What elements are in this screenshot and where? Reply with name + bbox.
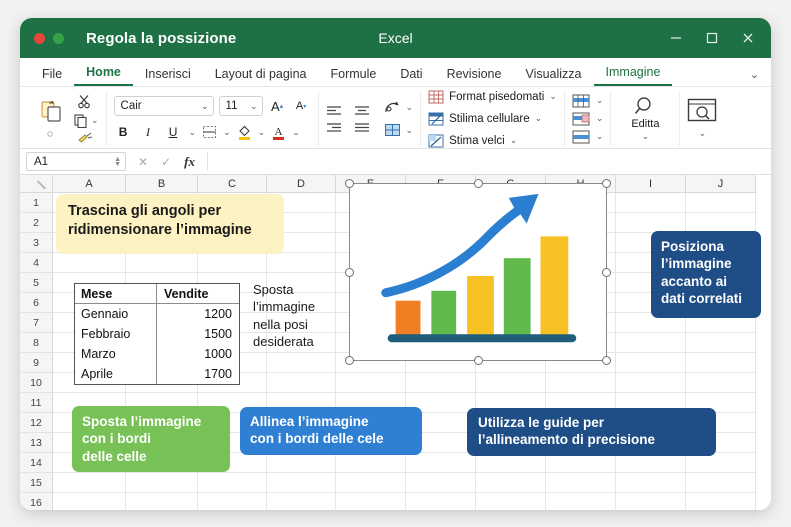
cell-D9[interactable] [267, 353, 336, 373]
resize-handle-top-left[interactable] [345, 179, 354, 188]
orientation-chevron-icon[interactable]: ⌄ [406, 102, 414, 113]
italic-button[interactable]: I [139, 123, 158, 141]
sales-data-table[interactable]: Mese Vendite Gennaio 1200 Febbraio 1500 … [74, 283, 240, 385]
borders-chevron-icon[interactable]: ⌄ [223, 127, 231, 138]
chart-graphic [350, 184, 606, 360]
align-left-icon[interactable] [326, 105, 342, 116]
ribbon-group-clipboard: ⌄ [28, 91, 107, 146]
cell-J14[interactable] [686, 453, 756, 473]
cell-C16[interactable] [198, 493, 267, 510]
conditional-format-icon [428, 90, 444, 104]
callout-resize: Trascina gli angoli per ridimensionare l… [56, 194, 284, 254]
paste-icon[interactable] [39, 99, 65, 125]
align-center-icon[interactable] [354, 105, 370, 116]
callout-move-with-cells: Sposta l’immagine con i bordi delle cell… [72, 406, 230, 472]
cell-C4[interactable] [198, 253, 267, 273]
resize-handle-bottom-center[interactable] [474, 356, 483, 365]
cell-F15[interactable] [406, 473, 476, 493]
callout-position-text: Posiziona l’immagine accanto ai dati cor… [651, 231, 761, 314]
cell-sales: 1200 [157, 304, 239, 324]
maximize-icon[interactable] [703, 29, 721, 47]
cell-J9[interactable] [686, 353, 756, 373]
editing-label: Editta [631, 118, 659, 130]
tab-file[interactable]: File [30, 67, 74, 86]
svg-text:A: A [275, 126, 283, 138]
insert-cells-icon[interactable] [572, 94, 590, 108]
styles-chevron-0-icon[interactable]: ⌄ [549, 91, 557, 102]
row-header-7[interactable]: 7 [20, 313, 53, 333]
tab-dati[interactable]: Dati [388, 67, 434, 86]
tab-formule[interactable]: Formule [318, 67, 388, 86]
column-header-C[interactable]: C [198, 175, 267, 193]
cell-F16[interactable] [406, 493, 476, 510]
row-header-9[interactable]: 9 [20, 353, 53, 373]
column-header-I[interactable]: I [616, 175, 686, 193]
cell-I10[interactable] [616, 373, 686, 393]
formula-bar: A1 ▲▼ ✕ ✓ fx [20, 149, 771, 175]
close-dot-icon[interactable] [34, 33, 45, 44]
resize-handle-middle-right[interactable] [602, 268, 611, 277]
row-header-3[interactable]: 3 [20, 233, 53, 253]
zoom-dot-icon[interactable] [53, 33, 64, 44]
cell-F10[interactable] [406, 373, 476, 393]
cell-month: Aprile [75, 364, 157, 384]
resize-handle-bottom-right[interactable] [602, 356, 611, 365]
delete-cells-icon[interactable] [572, 112, 590, 126]
ribbon-tabbar: File Home Inserisci Layout di pagina For… [20, 58, 771, 87]
delete-cells-chevron-icon[interactable]: ⌄ [596, 113, 604, 124]
styles-item-stima-velci[interactable]: Stima velci ⌄ [428, 132, 557, 149]
cell-I1[interactable] [616, 193, 686, 213]
cell-G16[interactable] [476, 493, 546, 510]
callout-guides-text: Utilizza le guide per l’allineamento di … [467, 408, 716, 455]
tab-home[interactable]: Home [74, 65, 133, 86]
row-header-16[interactable]: 16 [20, 493, 53, 510]
row-header-11[interactable]: 11 [20, 393, 53, 413]
cell-D4[interactable] [267, 253, 336, 273]
merge-chevron-icon[interactable]: ⌄ [406, 125, 414, 136]
fill-color-icon[interactable] [237, 124, 252, 140]
cell-E14[interactable] [336, 453, 406, 473]
row-header-2[interactable]: 2 [20, 213, 53, 233]
font-color-icon[interactable]: A [271, 124, 286, 140]
tab-layout-di-pagina[interactable]: Layout di pagina [203, 67, 319, 86]
cell-F14[interactable] [406, 453, 476, 473]
find-chevron-icon[interactable]: ⌄ [699, 128, 707, 139]
styles-label-1: Stilima cellulare [449, 113, 530, 125]
cell-J15[interactable] [686, 473, 756, 493]
cancel-icon[interactable]: ✕ [138, 155, 148, 169]
cell-A16[interactable] [53, 493, 126, 510]
cell-I15[interactable] [616, 473, 686, 493]
cell-I16[interactable] [616, 493, 686, 510]
callout-move-text: Sposta l’immagine con i bordi delle cell… [72, 406, 230, 472]
move-image-note: Sposta l’immagine nella posi desiderata [253, 281, 348, 350]
editing-chevron-icon[interactable]: ⌄ [642, 131, 650, 142]
copy-dropdown-chevron-icon[interactable]: ⌄ [91, 115, 99, 126]
cell-B16[interactable] [126, 493, 198, 510]
ribbon-group-find: ⌄ [680, 91, 724, 146]
cell-month: Febbraio [75, 324, 157, 344]
row-header-8[interactable]: 8 [20, 333, 53, 353]
cell-J2[interactable] [686, 213, 756, 233]
cell-sales: 1500 [157, 324, 239, 344]
cell-A4[interactable] [53, 253, 126, 273]
styles-chevron-1-icon[interactable]: ⌄ [535, 113, 543, 124]
bar-5 [541, 236, 569, 335]
cell-E15[interactable] [336, 473, 406, 493]
format-cells-chevron-icon[interactable]: ⌄ [596, 131, 604, 142]
font-name-chevron-icon[interactable]: ⌄ [201, 101, 209, 112]
ribbon-group-cells: ⌄ ⌄ [565, 91, 612, 146]
cell-sales: 1700 [157, 364, 239, 384]
shrink-font-icon[interactable]: A▾ [292, 97, 311, 115]
formula-bar-buttons: ✕ ✓ fx [138, 154, 195, 170]
insert-cells-chevron-icon[interactable]: ⌄ [596, 95, 604, 106]
format-cells-icon[interactable] [572, 130, 590, 144]
paste-dropdown-circle-icon[interactable] [46, 130, 58, 138]
font-name-combo[interactable]: Cair ⌄ [114, 96, 214, 116]
format-painter-icon[interactable] [73, 132, 99, 143]
font-size-value: 11 [226, 100, 238, 112]
styles-item-format-pisedomati[interactable]: Format pisedomati ⌄ [428, 88, 557, 105]
confirm-icon[interactable]: ✓ [161, 155, 171, 169]
cell-sales: 1000 [157, 344, 239, 364]
cell-D10[interactable] [267, 373, 336, 393]
row-header-15[interactable]: 15 [20, 473, 53, 493]
cell-B15[interactable] [126, 473, 198, 493]
cell-D16[interactable] [267, 493, 336, 510]
excel-window: Regola la possizione Excel File Home Ins… [20, 18, 771, 510]
callout-use-guides: Utilizza le guide per l’allineamento di … [467, 408, 716, 456]
styles-label-2: Stima velci [449, 135, 505, 147]
copy-icon[interactable] [73, 113, 88, 128]
resize-handle-top-right[interactable] [602, 179, 611, 188]
styles-label-0: Format pisedomati [449, 91, 544, 103]
cell-H14[interactable] [546, 453, 616, 473]
document-title: Regola la possizione [86, 30, 236, 47]
ribbon: ⌄ Cair ⌄ [20, 87, 771, 149]
row-header-4[interactable]: 4 [20, 253, 53, 273]
cell-B4[interactable] [126, 253, 198, 273]
justify-icon[interactable] [354, 122, 370, 133]
find-select-icon[interactable] [687, 98, 717, 122]
table-header-vendite: Vendite [157, 284, 239, 304]
table-row[interactable]: Febbraio 1500 [75, 324, 239, 344]
cell-G10[interactable] [476, 373, 546, 393]
bold-button[interactable]: B [114, 123, 133, 141]
row-header-14[interactable]: 14 [20, 453, 53, 473]
bar-1 [396, 301, 421, 336]
resize-handle-top-center[interactable] [474, 179, 483, 188]
font-name-value: Cair [121, 100, 142, 112]
cell-G14[interactable] [476, 453, 546, 473]
cell-J16[interactable] [686, 493, 756, 510]
bar-chart-growth-image[interactable] [349, 183, 607, 361]
table-header-mese: Mese [75, 284, 157, 304]
font-size-chevron-icon[interactable]: ⌄ [250, 101, 258, 112]
tab-revisione[interactable]: Revisione [435, 67, 514, 86]
table-style-icon [428, 112, 444, 126]
font-color-chevron-icon[interactable]: ⌄ [292, 127, 300, 138]
minimize-icon[interactable] [667, 29, 685, 47]
fill-color-chevron-icon[interactable]: ⌄ [258, 127, 266, 138]
cell-H15[interactable] [546, 473, 616, 493]
cell-C15[interactable] [198, 473, 267, 493]
magnifier-icon [633, 95, 657, 117]
cell-E10[interactable] [336, 373, 406, 393]
worksheet: ABCDEFGHIJ 12345678910111213141516 Mese … [20, 175, 771, 510]
cell-month: Gennaio [75, 304, 157, 324]
cell-A15[interactable] [53, 473, 126, 493]
column-header-J[interactable]: J [686, 175, 756, 193]
row-header-13[interactable]: 13 [20, 433, 53, 453]
close-icon[interactable] [739, 29, 757, 47]
title-bar: Regola la possizione Excel [20, 18, 771, 58]
callout-position-next-to-data: Posiziona l’immagine accanto ai dati cor… [651, 231, 761, 318]
callout-resize-text: Trascina gli angoli per ridimensionare l… [56, 194, 284, 247]
styles-chevron-2-icon[interactable]: ⌄ [510, 135, 518, 146]
cell-I8[interactable] [616, 333, 686, 353]
cell-H16[interactable] [546, 493, 616, 510]
column-header-A[interactable]: A [53, 175, 126, 193]
orientation-icon[interactable] [384, 100, 401, 115]
ribbon-group-font: Cair ⌄ 11 ⌄ A▴ A▾ B I U ⌄ [107, 91, 319, 146]
editing-button[interactable]: Editta ⌄ [618, 95, 672, 142]
align-right-icon[interactable] [326, 122, 342, 133]
cell-D15[interactable] [267, 473, 336, 493]
traffic-lights [34, 33, 64, 44]
ribbon-group-alignment: ⌄ ⌄ [319, 91, 422, 146]
window-controls [667, 29, 757, 47]
borders-icon[interactable] [202, 125, 217, 139]
ribbon-group-editing: Editta ⌄ [611, 91, 680, 146]
cell-E16[interactable] [336, 493, 406, 510]
cell-style-icon [428, 134, 444, 148]
tab-visualizza[interactable]: Visualizza [513, 67, 593, 86]
callout-align-with-cells: Allinea l’immagine con i bordi delle cel… [240, 407, 422, 455]
row-header-10[interactable]: 10 [20, 373, 53, 393]
scissors-icon[interactable] [73, 94, 99, 109]
cell-J10[interactable] [686, 373, 756, 393]
cell-I2[interactable] [616, 213, 686, 233]
resize-handle-bottom-left[interactable] [345, 356, 354, 365]
cell-D14[interactable] [267, 453, 336, 473]
underline-button[interactable]: U [164, 123, 183, 141]
baseline [388, 334, 577, 342]
cell-J8[interactable] [686, 333, 756, 353]
bar-3 [467, 276, 494, 335]
chevron-down-icon[interactable]: ⌄ [750, 68, 759, 81]
select-all-corner[interactable] [20, 175, 53, 193]
resize-handle-middle-left[interactable] [345, 268, 354, 277]
table-row[interactable]: Marzo 1000 [75, 344, 239, 364]
ribbon-group-styles: Format pisedomati ⌄ Stilima ce [421, 91, 565, 146]
name-box-spinner-icon[interactable]: ▲▼ [114, 157, 121, 167]
row-header-5[interactable]: 5 [20, 273, 53, 293]
callout-align-text: Allinea l’immagine con i bordi delle cel… [240, 407, 422, 454]
table-row[interactable]: Aprile 1700 [75, 364, 239, 384]
cell-I14[interactable] [616, 453, 686, 473]
bar-4 [504, 258, 531, 335]
cell-H10[interactable] [546, 373, 616, 393]
column-header-D[interactable]: D [267, 175, 336, 193]
table-row[interactable]: Gennaio 1200 [75, 304, 239, 324]
column-header-B[interactable]: B [126, 175, 198, 193]
underline-chevron-icon[interactable]: ⌄ [189, 127, 197, 138]
merge-cells-icon[interactable] [384, 123, 401, 137]
cell-G15[interactable] [476, 473, 546, 493]
grow-font-icon[interactable]: A▴ [268, 97, 287, 115]
tab-inserisci[interactable]: Inserisci [133, 67, 203, 86]
row-header-12[interactable]: 12 [20, 413, 53, 433]
tab-immagine[interactable]: Immagine [594, 65, 673, 86]
name-box[interactable]: A1 ▲▼ [26, 152, 126, 171]
row-header-1[interactable]: 1 [20, 193, 53, 213]
cell-month: Marzo [75, 344, 157, 364]
insert-function-icon[interactable]: fx [184, 154, 195, 170]
table-header-row: Mese Vendite [75, 284, 239, 304]
name-box-value: A1 [34, 156, 48, 168]
screenshot-root: Regola la possizione Excel File Home Ins… [0, 0, 791, 527]
bar-2 [431, 291, 456, 335]
cell-I9[interactable] [616, 353, 686, 373]
font-size-combo[interactable]: 11 ⌄ [219, 96, 263, 116]
cell-J1[interactable] [686, 193, 756, 213]
formula-input[interactable] [207, 152, 771, 171]
row-headers: 12345678910111213141516 [20, 193, 53, 510]
row-header-6[interactable]: 6 [20, 293, 53, 313]
styles-item-stilima-cellulare[interactable]: Stilima cellulare ⌄ [428, 110, 557, 127]
